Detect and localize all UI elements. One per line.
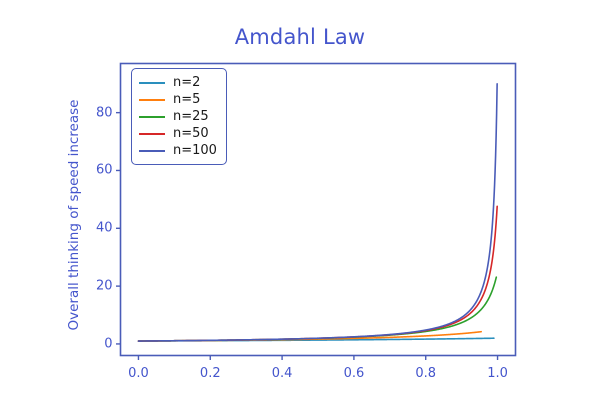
x-tick-label: 0.2 (200, 366, 221, 381)
legend-item-label: n=100 (173, 144, 217, 157)
series-line-n25 (138, 277, 496, 341)
legend-color-swatch (139, 82, 165, 84)
y-tick-label: 0 (85, 336, 113, 351)
legend-item-label: n=2 (173, 76, 200, 89)
series-line-n50 (138, 206, 497, 341)
legend-color-swatch (139, 116, 165, 118)
legend-item-label: n=25 (173, 110, 209, 123)
legend-item[interactable]: n=50 (139, 125, 217, 142)
legend-item[interactable]: n=100 (139, 142, 217, 159)
legend-color-swatch (139, 99, 165, 101)
legend-item[interactable]: n=2 (139, 74, 217, 91)
chart-figure: Amdahl Law Overall thinking of speed inc… (0, 0, 600, 415)
legend-item[interactable]: n=5 (139, 91, 217, 108)
legend-color-swatch (139, 150, 165, 152)
plot-area (0, 0, 600, 415)
legend-item[interactable]: n=25 (139, 108, 217, 125)
x-tick-label: 0.0 (128, 366, 149, 381)
x-tick-label: 0.8 (415, 366, 436, 381)
y-tick-label: 80 (85, 105, 113, 120)
chart-legend[interactable]: n=2n=5n=25n=50n=100 (131, 68, 227, 165)
legend-color-swatch (139, 133, 165, 135)
x-tick-label: 0.4 (272, 366, 293, 381)
x-tick-label: 0.6 (344, 366, 365, 381)
y-tick-label: 20 (85, 279, 113, 294)
y-tick-label: 40 (85, 221, 113, 236)
legend-item-label: n=50 (173, 127, 209, 140)
x-tick-label: 1.0 (487, 366, 508, 381)
legend-item-label: n=5 (173, 93, 200, 106)
y-tick-label: 60 (85, 163, 113, 178)
